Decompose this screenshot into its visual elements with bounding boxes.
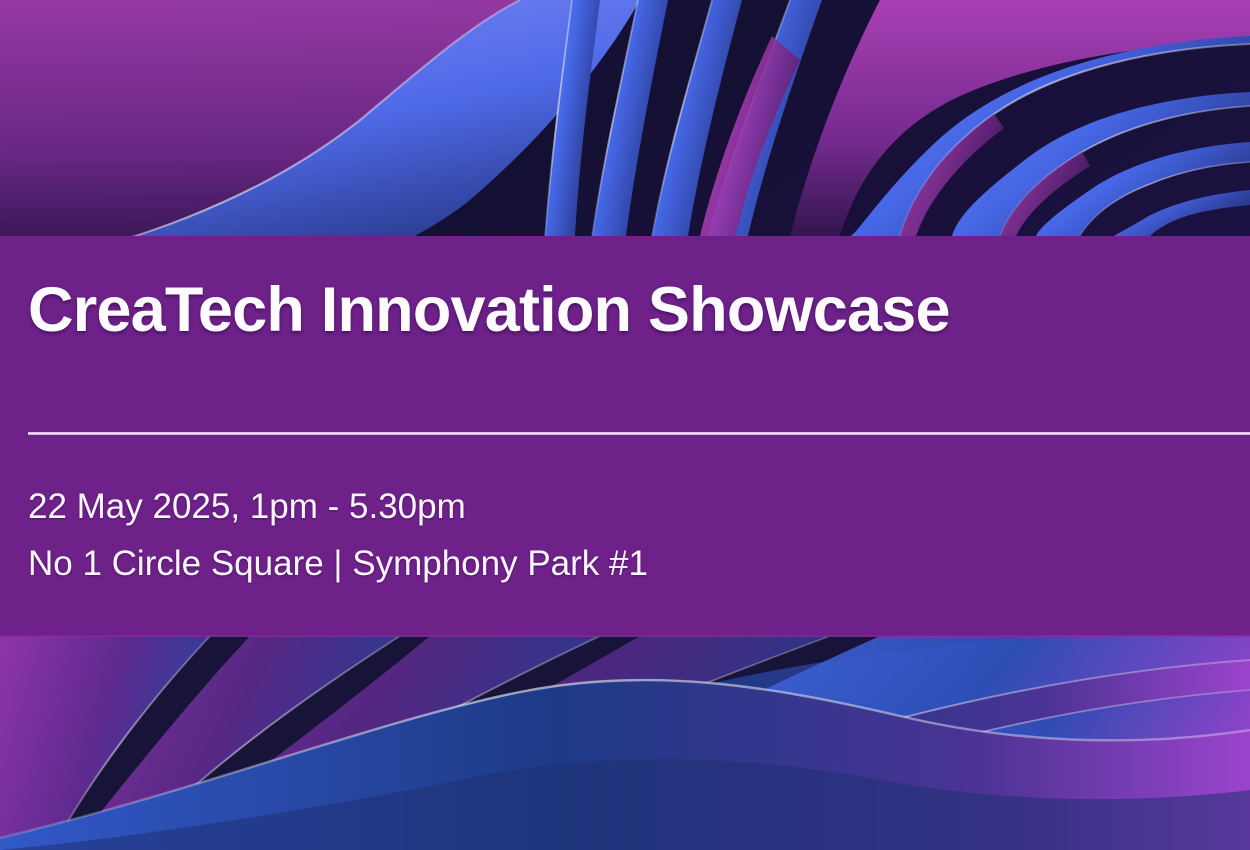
event-datetime: 22 May 2025, 1pm - 5.30pm: [28, 479, 648, 536]
event-banner: CreaTech Innovation Showcase 22 May 2025…: [0, 0, 1250, 850]
event-title: CreaTech Innovation Showcase: [28, 278, 950, 344]
event-venue: No 1 Circle Square | Symphony Park #1: [28, 536, 648, 593]
event-details: 22 May 2025, 1pm - 5.30pm No 1 Circle Sq…: [28, 479, 648, 592]
bottom-ribbons: [0, 620, 1250, 850]
title-divider: [28, 432, 1250, 435]
event-info-band: CreaTech Innovation Showcase 22 May 2025…: [0, 236, 1250, 635]
